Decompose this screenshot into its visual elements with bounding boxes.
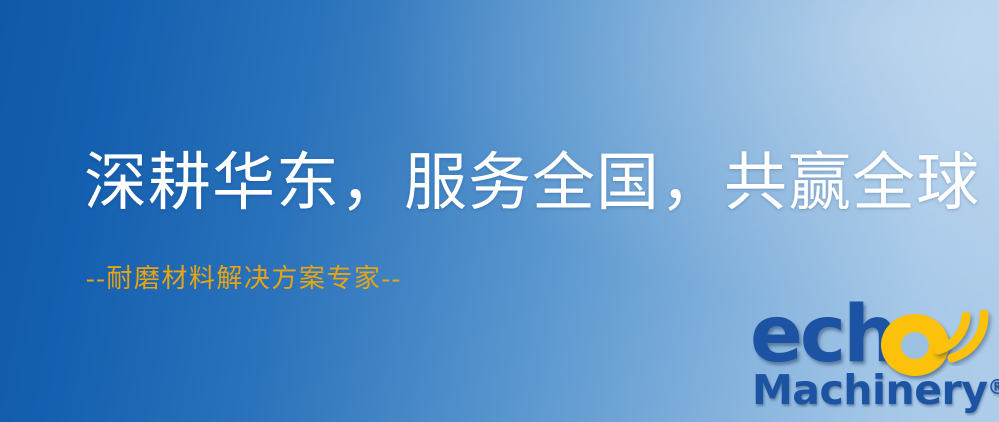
registered-trademark-icon: ® [987, 375, 999, 399]
echo-machinery-logo[interactable]: ech Machinery® [748, 300, 999, 422]
logo-tagline-text: Machinery [752, 366, 987, 414]
banner-headline: 深耕华东，服务全国，共赢全球 [84, 148, 980, 219]
logo-tagline: Machinery® [752, 370, 999, 411]
banner-subheadline: --耐磨材料解决方案专家-- [86, 263, 402, 294]
echo-wave-icon [930, 294, 999, 366]
logo-letter-o-counter [901, 332, 929, 359]
logo-wordmark-ech: ech [750, 296, 896, 374]
promo-banner: 深耕华东，服务全国，共赢全球 --耐磨材料解决方案专家-- ech Machin… [0, 0, 999, 422]
